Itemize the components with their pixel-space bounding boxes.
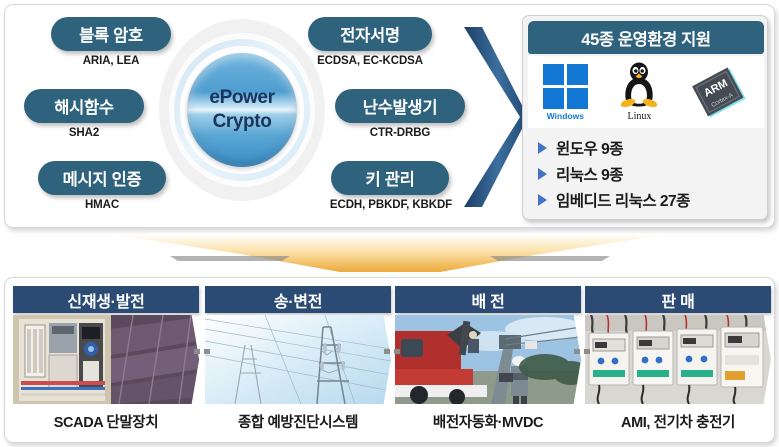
domain-card-header: 배 전 (395, 286, 581, 313)
feature-algos-rng: CTR-DRBG (335, 127, 465, 139)
connector-dots-2 (384, 349, 400, 354)
domain-card-transmission[interactable]: 송·변전 (205, 286, 391, 434)
feature-pill-hash[interactable]: 해시함수 (24, 89, 144, 123)
domain-card-distribution[interactable]: 배 전 (395, 286, 581, 434)
domain-card-caption: 종합 예방진단시스템 (205, 411, 391, 432)
os-list-item-label: 임베디드 리눅스 27종 (556, 189, 690, 211)
os-list-item-linux: 리눅스 9종 (538, 161, 764, 187)
sphere-label-line2: Crypto (213, 112, 272, 132)
os-support-header: 45종 운영환경 지원 (528, 21, 764, 54)
windows-logo-label: Windows (547, 111, 584, 121)
feature-pill-key-management[interactable]: 키 관리 (331, 161, 449, 195)
domain-card-renewable[interactable]: 신재생·발전 (13, 286, 199, 434)
domain-card-caption: AMI, 전기차 충전기 (585, 411, 771, 432)
linux-logo-label: Linux (628, 111, 652, 122)
os-list-item-label: 윈도우 9종 (556, 137, 623, 159)
domain-card-photo-bucket-truck (395, 315, 581, 404)
domain-card-caption: SCADA 단말장치 (13, 411, 199, 432)
sphere-label-line1: ePower (209, 88, 274, 108)
triangle-bullet-icon (538, 194, 547, 206)
domain-card-photo-scada (13, 315, 199, 404)
arm-cortex-chip-icon: ARM Cortex-A (691, 63, 749, 121)
crypto-library-panel: ePower Crypto 블록 암호 ARIA, LEA 해시함수 SHA2 … (4, 4, 775, 228)
windows-icon (543, 64, 588, 109)
linux-logo-cell: Linux (617, 62, 661, 122)
feature-pill-mac[interactable]: 메시지 인증 (38, 161, 166, 195)
domain-card-header: 신재생·발전 (13, 286, 199, 313)
application-domains-panel: 신재생·발전 (4, 277, 775, 443)
windows-logo-cell: Windows (543, 64, 588, 121)
arm-logo-cell: ARM Cortex-A (691, 63, 749, 121)
triangle-bullet-icon (538, 142, 547, 154)
linux-tux-icon (617, 62, 661, 110)
os-list-item-windows: 윈도우 9종 (538, 135, 764, 161)
feature-pill-signature[interactable]: 전자서명 (308, 17, 432, 51)
feature-algos-signature: ECDSA, EC-KCDSA (296, 55, 444, 67)
infographic-root: ePower Crypto 블록 암호 ARIA, LEA 해시함수 SHA2 … (0, 0, 779, 447)
domain-card-header: 판 매 (585, 286, 771, 313)
os-list-item-embedded-linux: 임베디드 리눅스 27종 (538, 187, 764, 213)
feature-algos-block-cipher: ARIA, LEA (51, 55, 171, 67)
feature-algos-mac: HMAC (38, 199, 166, 211)
connector-dots-3 (574, 349, 590, 354)
domain-card-caption: 배전자동화·MVDC (395, 411, 581, 432)
domain-card-sales[interactable]: 판 매 (585, 286, 771, 434)
domain-card-photo-tower (205, 315, 391, 404)
feature-pill-block-cipher[interactable]: 블록 암호 (51, 17, 171, 51)
gold-down-arrow (110, 232, 670, 274)
os-support-card: 45종 운영환경 지원 Windows (522, 15, 768, 220)
chevron-right-arrow (458, 25, 526, 209)
os-logo-row: Windows Linux (528, 56, 764, 128)
os-list-item-label: 리눅스 9종 (556, 163, 623, 185)
os-support-list: 윈도우 9종 리눅스 9종 임베디드 리눅스 27종 (528, 132, 764, 216)
triangle-bullet-icon (538, 168, 547, 180)
feature-algos-hash: SHA2 (24, 127, 144, 139)
domain-card-header: 송·변전 (205, 286, 391, 313)
connector-dots-1 (194, 349, 210, 354)
feature-pill-rng[interactable]: 난수발생기 (335, 89, 465, 123)
epower-crypto-sphere: ePower Crypto (187, 53, 297, 167)
domain-card-photo-ami-meters (585, 315, 771, 404)
